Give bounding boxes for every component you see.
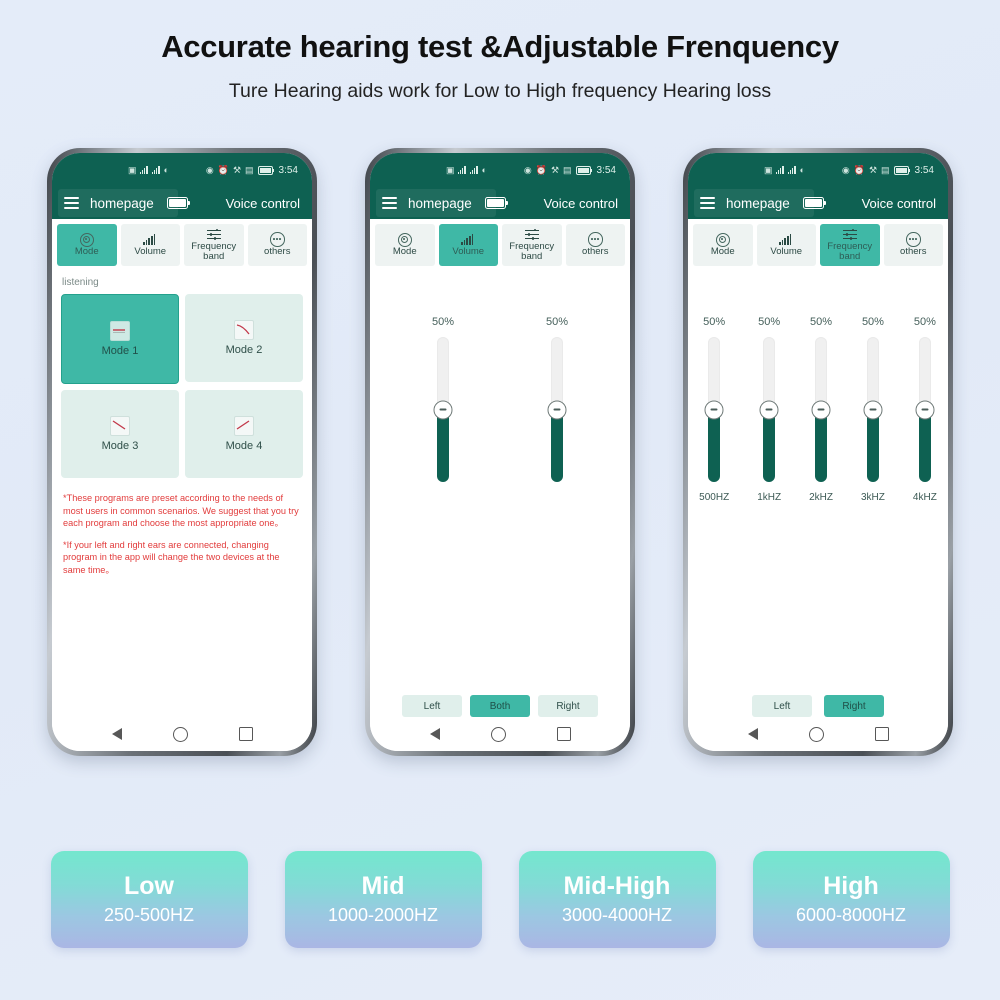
signal-icon-1 [458, 166, 467, 174]
tab-bar-3: Mode Volume Frequency band others [688, 219, 948, 270]
mode-card-2-label: Mode 2 [226, 344, 263, 356]
battery-icon [258, 166, 273, 175]
slider-fill [815, 410, 827, 483]
hamburger-icon[interactable] [382, 197, 397, 209]
device-battery-icon [803, 197, 824, 209]
tab-frequency-band[interactable]: Frequency band [184, 224, 244, 266]
frequency-card-mid-high-range: 3000-4000HZ [562, 905, 672, 926]
volume-slider-area: 50% 50% [370, 270, 630, 717]
slider-fill [867, 410, 879, 483]
frequency-500hz-percent: 50% [703, 316, 725, 328]
vibrate-icon: ▤ [563, 166, 572, 175]
slider-thumb[interactable] [812, 400, 831, 419]
sim-icon: ▣ [446, 166, 455, 175]
alarm-icon: ⏰ [854, 166, 865, 175]
page-heading-block: Accurate hearing test &Adjustable Frenqu… [0, 0, 1000, 103]
mode-icon [80, 233, 94, 246]
tab-frequency-band[interactable]: Frequency band [502, 224, 562, 266]
frequency-3khz-label: 3kHZ [861, 492, 885, 503]
tab-mode-label: Mode [711, 247, 735, 257]
mode-icon [398, 233, 412, 246]
notes-block: *These programs are preset according to … [52, 478, 312, 576]
frequency-slider-1khz: 50% 1kHZ [757, 316, 781, 503]
volume-icon [779, 233, 793, 246]
homepage-label[interactable]: homepage [90, 196, 154, 211]
volume-left-slider[interactable] [437, 337, 449, 482]
mode-curve-flat-icon [110, 321, 130, 341]
mode-curve-down-icon [110, 416, 130, 436]
frequency-card-mid-range: 1000-2000HZ [328, 905, 438, 926]
phone-mockup-1: ▣ ◐ ◉ ⏰ ⚒ ▤ 3:54 homepage [47, 148, 317, 756]
status-bar-time: 3:54 [915, 165, 934, 176]
frequency-4khz-percent: 50% [914, 316, 936, 328]
page-title: Accurate hearing test &Adjustable Frenqu… [0, 30, 1000, 64]
tab-frequency-band-label: Frequency band [820, 242, 880, 262]
status-bar-right-icons-3: ◉ ⏰ ⚒ ▤ 3:54 [842, 165, 934, 176]
mode-grid: Mode 1 Mode 2 Mode 3 [52, 288, 312, 478]
tab-volume-label: Volume [134, 247, 166, 257]
frequency-1khz-slider[interactable] [763, 337, 775, 482]
recents-square-icon[interactable] [239, 727, 253, 741]
tab-mode-label: Mode [75, 247, 99, 257]
home-circle-icon[interactable] [173, 727, 188, 742]
voice-control-button[interactable]: Voice control [226, 196, 300, 211]
eye-icon: ◉ [206, 166, 214, 175]
ear-button-right[interactable]: Right [538, 695, 598, 717]
others-icon [588, 233, 603, 246]
frequency-slider-2khz: 50% 2kHZ [809, 316, 833, 503]
frequency-2khz-label: 2kHZ [809, 492, 833, 503]
voice-control-button[interactable]: Voice control [544, 196, 618, 211]
wifi-icon: ◐ [482, 166, 487, 175]
recents-square-icon[interactable] [557, 727, 571, 741]
mode-icon [716, 233, 730, 246]
tab-others-label: others [264, 247, 290, 257]
bluetooth-icon: ⚒ [869, 166, 877, 175]
back-triangle-icon[interactable] [430, 728, 440, 740]
slider-fill [437, 410, 449, 483]
slider-fill [551, 410, 563, 483]
alarm-icon: ⏰ [536, 166, 547, 175]
screen-body-1: listening Mode 1 Mode 2 [52, 270, 312, 717]
frequency-slider-3khz: 50% 3kHZ [861, 316, 885, 503]
frequency-slider-4khz: 50% 4kHZ [913, 316, 937, 503]
tab-others-label: others [900, 247, 926, 257]
ear-button-right[interactable]: Right [824, 695, 884, 717]
mode-curve-up-icon [234, 416, 254, 436]
tab-volume[interactable]: Volume [439, 224, 499, 266]
slider-thumb[interactable] [863, 400, 882, 419]
homepage-label[interactable]: homepage [726, 196, 790, 211]
ear-button-left[interactable]: Left [402, 695, 462, 717]
frequency-card-mid-title: Mid [361, 873, 404, 901]
mode-card-3[interactable]: Mode 3 [61, 390, 179, 478]
others-icon [270, 233, 285, 246]
slider-thumb[interactable] [705, 400, 724, 419]
phone-screen-1: ▣ ◐ ◉ ⏰ ⚒ ▤ 3:54 homepage [52, 153, 312, 751]
frequency-1khz-percent: 50% [758, 316, 780, 328]
back-triangle-icon[interactable] [112, 728, 122, 740]
frequency-card-low: Low 250-500HZ [51, 851, 248, 948]
tab-frequency-band-label: Frequency band [184, 242, 244, 262]
frequency-4khz-label: 4kHZ [913, 492, 937, 503]
frequency-card-high: High 6000-8000HZ [753, 851, 950, 948]
ear-selector-2: Left Both Right [370, 695, 630, 717]
volume-right-percent: 50% [546, 316, 568, 328]
status-bar-time: 3:54 [597, 165, 616, 176]
volume-slider-right: 50% [546, 316, 568, 482]
frequency-3khz-percent: 50% [862, 316, 884, 328]
others-icon [906, 233, 921, 246]
volume-icon [461, 233, 475, 246]
slider-fill [919, 410, 931, 483]
sim-icon: ▣ [128, 166, 137, 175]
frequency-card-mid-high: Mid-High 3000-4000HZ [519, 851, 716, 948]
ear-button-left[interactable]: Left [752, 695, 812, 717]
tab-volume-label: Volume [770, 247, 802, 257]
ear-selector-3: Left Right [688, 695, 948, 717]
hamburger-icon[interactable] [64, 197, 79, 209]
frequency-2khz-slider[interactable] [815, 337, 827, 482]
signal-icon-1 [776, 166, 785, 174]
frequency-slider-500hz: 50% 500HZ [699, 316, 729, 503]
tab-bar-1: Mode Volume Frequency band others [52, 219, 312, 270]
bluetooth-icon: ⚒ [233, 166, 241, 175]
status-bar-right-icons-2: ◉ ⏰ ⚒ ▤ 3:54 [524, 165, 616, 176]
home-circle-icon[interactable] [491, 727, 506, 742]
tab-mode[interactable]: Mode [57, 224, 117, 266]
frequency-2khz-percent: 50% [810, 316, 832, 328]
app-bar-1: homepage Voice control [52, 187, 312, 219]
frequency-icon [843, 228, 857, 241]
note-2: *If your left and right ears are connect… [63, 539, 301, 577]
mode-curve-down-steep-icon [234, 320, 254, 340]
frequency-4khz-slider[interactable] [919, 337, 931, 482]
frequency-card-mid-high-title: Mid-High [564, 873, 671, 901]
eye-icon: ◉ [524, 166, 532, 175]
signal-icon-2 [470, 166, 479, 174]
voice-control-button[interactable]: Voice control [862, 196, 936, 211]
tab-others[interactable]: others [884, 224, 944, 266]
wifi-icon: ◐ [164, 166, 169, 175]
battery-icon [894, 166, 909, 175]
hamburger-icon[interactable] [700, 197, 715, 209]
battery-icon [576, 166, 591, 175]
slider-fill [763, 410, 775, 483]
frequency-slider-area: 50% 500HZ 50% 1kHZ [688, 270, 948, 717]
frequency-1khz-label: 1kHZ [757, 492, 781, 503]
tab-volume[interactable]: Volume [757, 224, 817, 266]
volume-icon [143, 233, 157, 246]
frequency-500hz-label: 500HZ [699, 492, 729, 503]
phone-mockup-2: ▣ ◐ ◉ ⏰ ⚒ ▤ 3:54 homepage [365, 148, 635, 756]
app-bar-2: homepage Voice control [370, 187, 630, 219]
slider-thumb[interactable] [548, 400, 567, 419]
vibrate-icon: ▤ [881, 166, 890, 175]
tab-frequency-band-label: Frequency band [502, 242, 562, 262]
status-bar-left-icons-2: ▣ ◐ [446, 166, 487, 175]
tab-mode-label: Mode [393, 247, 417, 257]
alarm-icon: ⏰ [218, 166, 229, 175]
phone-screen-3: ▣ ◐ ◉ ⏰ ⚒ ▤ 3:54 homepage [688, 153, 948, 751]
slider-thumb[interactable] [760, 400, 779, 419]
frequency-3khz-slider[interactable] [867, 337, 879, 482]
mode-card-4-label: Mode 4 [226, 440, 263, 452]
phone-mockup-3: ▣ ◐ ◉ ⏰ ⚒ ▤ 3:54 homepage [683, 148, 953, 756]
frequency-card-low-title: Low [124, 873, 174, 901]
status-bar-1: ▣ ◐ ◉ ⏰ ⚒ ▤ 3:54 [52, 153, 312, 187]
status-bar-right-icons: ◉ ⏰ ⚒ ▤ 3:54 [206, 165, 298, 176]
frequency-card-high-title: High [823, 873, 879, 901]
listening-label: listening [52, 270, 312, 288]
device-battery-icon [485, 197, 506, 209]
status-bar-left-icons-3: ▣ ◐ [764, 166, 805, 175]
frequency-card-high-range: 6000-8000HZ [796, 905, 906, 926]
phone-screen-2: ▣ ◐ ◉ ⏰ ⚒ ▤ 3:54 homepage [370, 153, 630, 751]
volume-right-slider[interactable] [551, 337, 563, 482]
frequency-icon [525, 228, 539, 241]
status-bar-time: 3:54 [279, 165, 298, 176]
frequency-cards-row: Low 250-500HZ Mid 1000-2000HZ Mid-High 3… [0, 851, 1000, 948]
homepage-label[interactable]: homepage [408, 196, 472, 211]
volume-slider-left: 50% [432, 316, 454, 482]
tab-volume[interactable]: Volume [121, 224, 181, 266]
mode-card-1[interactable]: Mode 1 [61, 294, 179, 384]
tab-mode[interactable]: Mode [693, 224, 753, 266]
android-nav-bar-3 [688, 717, 948, 751]
phones-row: ▣ ◐ ◉ ⏰ ⚒ ▤ 3:54 homepage [0, 148, 1000, 768]
status-bar-2: ▣ ◐ ◉ ⏰ ⚒ ▤ 3:54 [370, 153, 630, 187]
mode-card-1-label: Mode 1 [102, 345, 139, 357]
signal-icon-1 [140, 166, 149, 174]
android-nav-bar-1 [52, 717, 312, 751]
frequency-card-mid: Mid 1000-2000HZ [285, 851, 482, 948]
eye-icon: ◉ [842, 166, 850, 175]
tab-volume-label: Volume [452, 247, 484, 257]
page-subtitle: Ture Hearing aids work for Low to High f… [0, 80, 1000, 103]
recents-square-icon[interactable] [875, 727, 889, 741]
slider-thumb[interactable] [433, 400, 452, 419]
tab-others[interactable]: others [248, 224, 308, 266]
tab-others[interactable]: others [566, 224, 626, 266]
tab-mode[interactable]: Mode [375, 224, 435, 266]
frequency-icon [207, 228, 221, 241]
mode-card-3-label: Mode 3 [102, 440, 139, 452]
slider-thumb[interactable] [915, 400, 934, 419]
note-1: *These programs are preset according to … [63, 492, 301, 530]
bluetooth-icon: ⚒ [551, 166, 559, 175]
wifi-icon: ◐ [800, 166, 805, 175]
signal-icon-2 [152, 166, 161, 174]
slider-fill [708, 410, 720, 483]
status-bar-3: ▣ ◐ ◉ ⏰ ⚒ ▤ 3:54 [688, 153, 948, 187]
sim-icon: ▣ [764, 166, 773, 175]
home-circle-icon[interactable] [809, 727, 824, 742]
mode-card-4[interactable]: Mode 4 [185, 390, 303, 478]
android-nav-bar-2 [370, 717, 630, 751]
back-triangle-icon[interactable] [748, 728, 758, 740]
frequency-card-low-range: 250-500HZ [104, 905, 194, 926]
vibrate-icon: ▤ [245, 166, 254, 175]
volume-left-percent: 50% [432, 316, 454, 328]
frequency-500hz-slider[interactable] [708, 337, 720, 482]
signal-icon-2 [788, 166, 797, 174]
tab-frequency-band[interactable]: Frequency band [820, 224, 880, 266]
screen-body-3: 50% 500HZ 50% 1kHZ [688, 270, 948, 717]
device-battery-icon [167, 197, 188, 209]
tab-bar-2: Mode Volume Frequency band others [370, 219, 630, 270]
mode-card-2[interactable]: Mode 2 [185, 294, 303, 382]
tab-others-label: others [582, 247, 608, 257]
app-bar-3: homepage Voice control [688, 187, 948, 219]
screen-body-2: 50% 50% Left [370, 270, 630, 717]
status-bar-left-icons: ▣ ◐ [128, 166, 169, 175]
ear-button-both[interactable]: Both [470, 695, 530, 717]
